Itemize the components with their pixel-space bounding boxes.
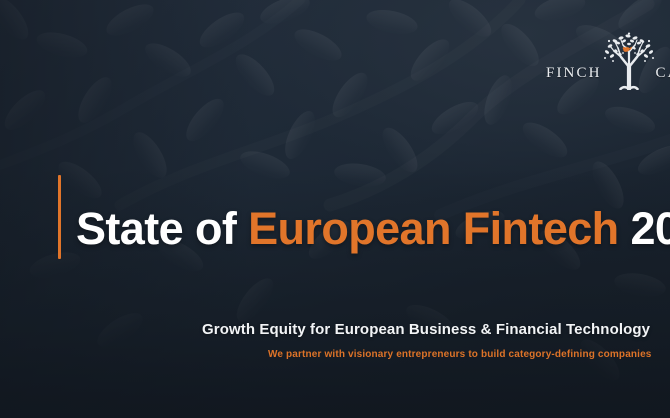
title-accent-bar <box>58 175 61 259</box>
title-block: State of European Fintech 2025 <box>58 175 670 283</box>
tagline-subtext: We partner with visionary entrepreneurs … <box>268 348 670 361</box>
title-segment-highlight: European Fintech <box>248 203 618 254</box>
title-slide: FINCH <box>0 0 670 418</box>
page-title: State of European Fintech 2025 <box>76 205 670 252</box>
title-segment-white-2: 2025 <box>619 203 670 254</box>
logo-word-finch: FINCH <box>546 66 602 90</box>
logo-word-capital: CAPITAL <box>656 66 670 90</box>
tagline-headline: Growth Equity for European Business & Fi… <box>202 320 670 340</box>
title-segment-white-1: State of <box>76 203 248 254</box>
finch-capital-logo[interactable]: FINCH <box>546 30 670 90</box>
tagline-block: Growth Equity for European Business & Fi… <box>202 320 670 361</box>
tree-icon <box>601 32 657 90</box>
